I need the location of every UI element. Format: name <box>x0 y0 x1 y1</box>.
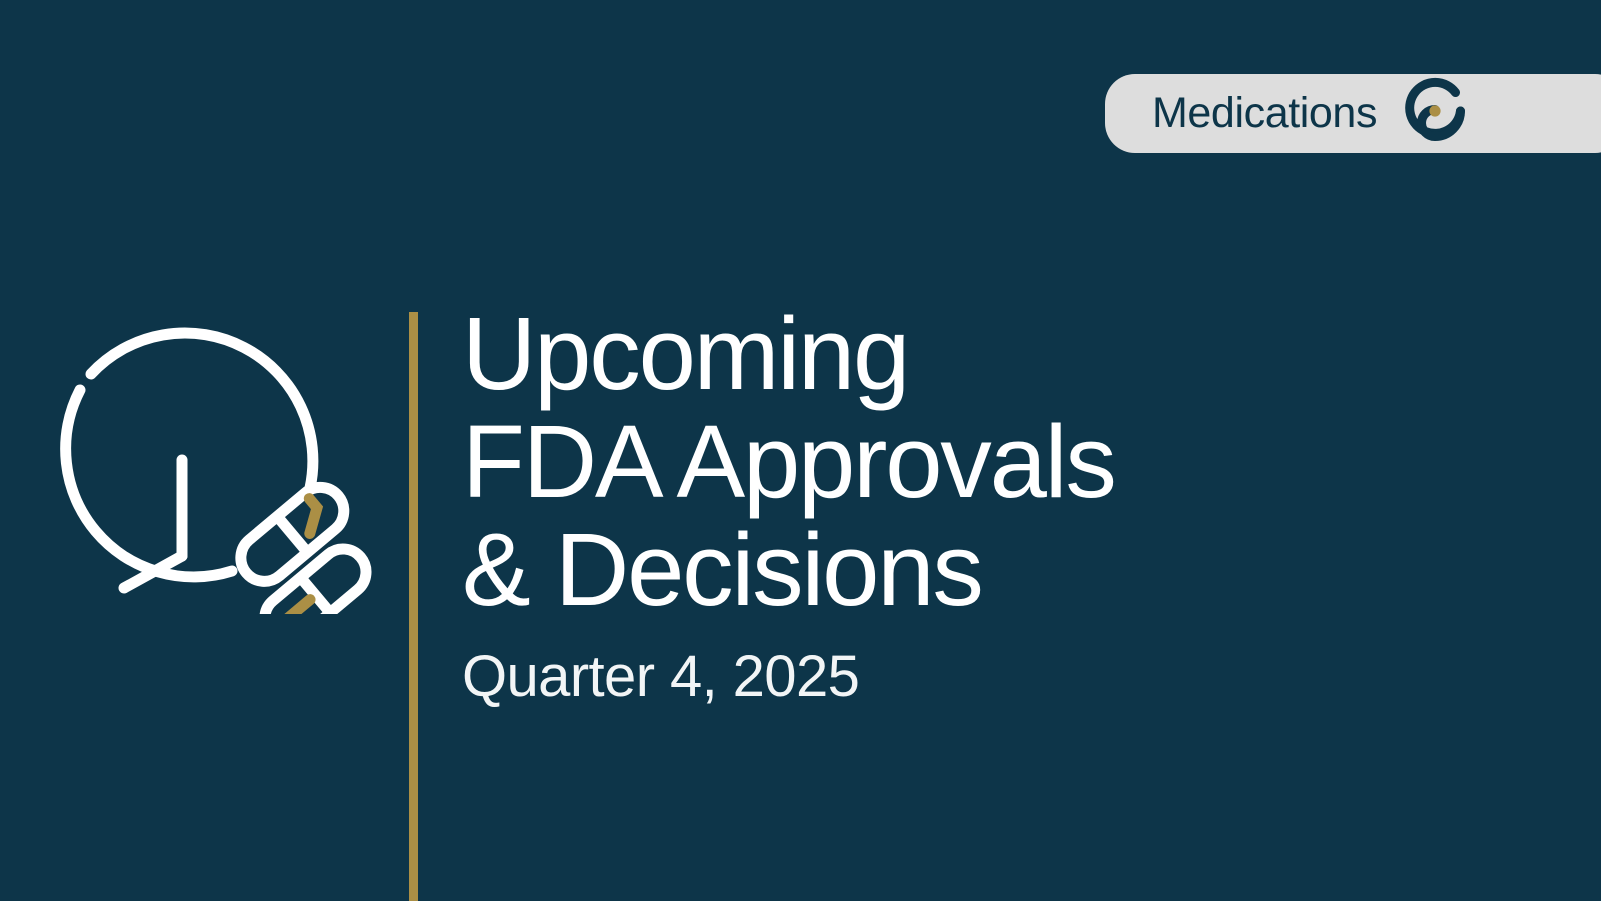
page-title-line-2: FDA Approvals <box>462 408 1522 516</box>
presentation-slide: Medications <box>0 0 1601 901</box>
slide-subtitle: Quarter 4, 2025 <box>462 646 1522 708</box>
page-title-line-3: & Decisions <box>462 516 1522 624</box>
gold-vertical-divider <box>409 312 418 901</box>
slide-title-block: Upcoming FDA Approvals & Decisions Quart… <box>462 300 1522 708</box>
spiral-c-logo-icon <box>1399 75 1471 152</box>
clock-dial-lower-arc <box>66 390 232 577</box>
clock-dial-upper-arc <box>91 333 313 488</box>
category-badge[interactable]: Medications <box>1105 74 1601 153</box>
clock-with-pills-icon <box>36 298 382 614</box>
page-title-line-1: Upcoming <box>462 300 1522 408</box>
category-badge-label: Medications <box>1152 92 1377 135</box>
